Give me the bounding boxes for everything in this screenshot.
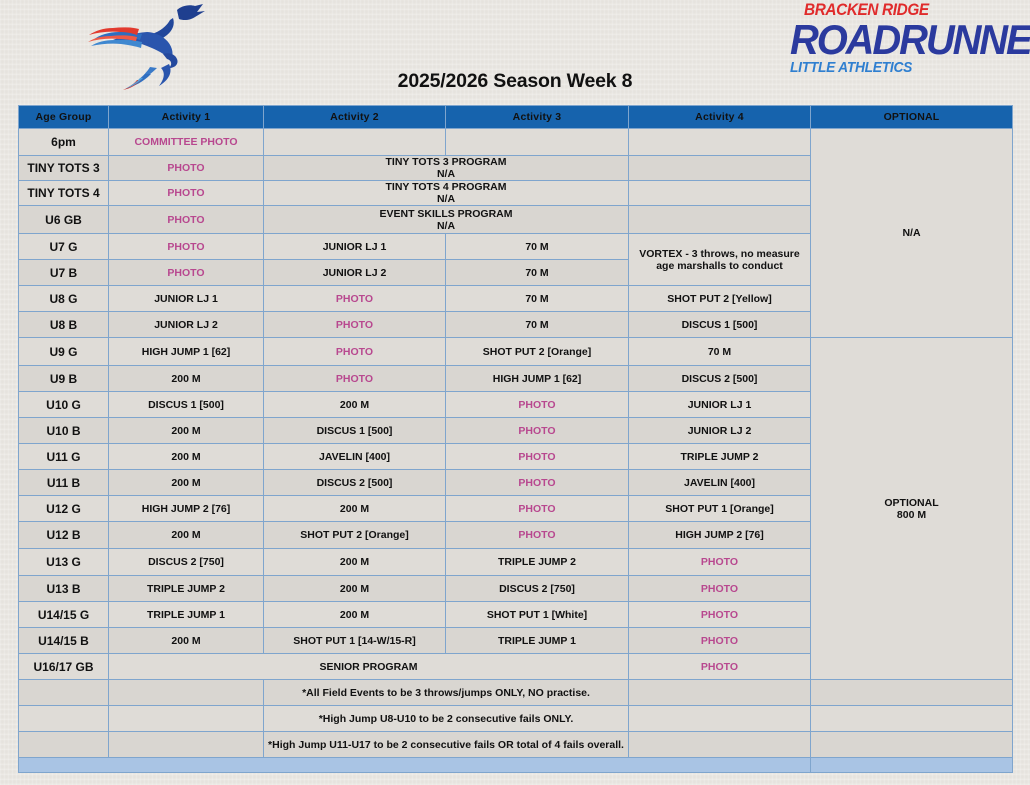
cell-activity-4: PHOTO (629, 654, 811, 680)
schedule-table-wrapper: Age Group Activity 1 Activity 2 Activity… (18, 105, 1012, 773)
page-header: BRACKEN RIDGE ROADRUNNERS LITTLE ATHLETI… (0, 0, 1030, 104)
cell-activity-2 (264, 129, 446, 156)
cell-activity-2: 200 M (264, 576, 446, 602)
cell-activity-1: TRIPLE JUMP 1 (109, 602, 264, 628)
cell-activity-3: 70 M (446, 234, 629, 260)
cell-activity-1: 200 M (109, 522, 264, 549)
cell-activity-1: COMMITTEE PHOTO (109, 129, 264, 156)
cell-activity-1: 200 M (109, 628, 264, 654)
cell-optional-800m: OPTIONAL 800 M (811, 338, 1013, 680)
cell-age-group: U9 B (19, 366, 109, 392)
cell-senior-program: SENIOR PROGRAM (109, 654, 629, 680)
cell-activity-4 (629, 181, 811, 206)
cell-vortex-note: VORTEX - 3 throws, no measure age marsha… (629, 234, 811, 286)
cell-activity-4: PHOTO (629, 602, 811, 628)
bottom-strip-left (19, 758, 811, 773)
cell-activity-3: PHOTO (446, 470, 629, 496)
cell-age-group: U13 G (19, 549, 109, 576)
cell-optional-na: N/A (811, 129, 1013, 338)
vortex-note-line-2: age marshalls to conduct (631, 260, 808, 272)
cell-age-group: U14/15 G (19, 602, 109, 628)
cell-age-group: U6 GB (19, 206, 109, 234)
cell-activity-2: PHOTO (264, 338, 446, 366)
cell-age-group: U11 B (19, 470, 109, 496)
cell-activity-4: SHOT PUT 1 [Orange] (629, 496, 811, 522)
footnote-row: *High Jump U11-U17 to be 2 consecutive f… (19, 732, 1013, 758)
cell-age-group: U14/15 B (19, 628, 109, 654)
cell-blank (811, 732, 1013, 758)
program-status: N/A (266, 193, 626, 205)
cell-activity-2: DISCUS 2 [500] (264, 470, 446, 496)
cell-age-group: U11 G (19, 444, 109, 470)
cell-blank (19, 680, 109, 706)
column-header-activity-1: Activity 1 (109, 106, 264, 129)
optional-distance: 800 M (813, 509, 1010, 521)
column-header-activity-4: Activity 4 (629, 106, 811, 129)
cell-activity-2: JUNIOR LJ 2 (264, 260, 446, 286)
cell-activity-3: 70 M (446, 286, 629, 312)
bottom-strip-row (19, 758, 1013, 773)
cell-activity-4 (629, 129, 811, 156)
cell-activity-1: HIGH JUMP 1 [62] (109, 338, 264, 366)
cell-blank (629, 706, 811, 732)
cell-blank (109, 706, 264, 732)
column-header-activity-3: Activity 3 (446, 106, 629, 129)
cell-activity-3: PHOTO (446, 496, 629, 522)
cell-activity-1: 200 M (109, 470, 264, 496)
footnote-row: *High Jump U8-U10 to be 2 consecutive fa… (19, 706, 1013, 732)
cell-age-group: U12 G (19, 496, 109, 522)
cell-age-group: U10 G (19, 392, 109, 418)
cell-footnote-text: *High Jump U8-U10 to be 2 consecutive fa… (264, 706, 629, 732)
cell-activity-4: PHOTO (629, 576, 811, 602)
cell-activity-2: DISCUS 1 [500] (264, 418, 446, 444)
program-name: TINY TOTS 3 PROGRAM (266, 156, 626, 168)
cell-activity-4: JUNIOR LJ 1 (629, 392, 811, 418)
cell-blank (19, 706, 109, 732)
cell-activity-3: PHOTO (446, 444, 629, 470)
cell-activity-3: HIGH JUMP 1 [62] (446, 366, 629, 392)
cell-activity-4: JAVELIN [400] (629, 470, 811, 496)
cell-activity-1: TRIPLE JUMP 2 (109, 576, 264, 602)
cell-activity-2: 200 M (264, 549, 446, 576)
program-name: TINY TOTS 4 PROGRAM (266, 181, 626, 193)
cell-activity-2: 200 M (264, 602, 446, 628)
cell-activity-3: TRIPLE JUMP 2 (446, 549, 629, 576)
cell-activity-1: 200 M (109, 366, 264, 392)
cell-activity-2: PHOTO (264, 366, 446, 392)
cell-activity-3: DISCUS 2 [750] (446, 576, 629, 602)
cell-blank (109, 732, 264, 758)
footnote-row: *All Field Events to be 3 throws/jumps O… (19, 680, 1013, 706)
cell-footnote-text: *High Jump U11-U17 to be 2 consecutive f… (264, 732, 629, 758)
cell-activity-3: TRIPLE JUMP 1 (446, 628, 629, 654)
page-title: 2025/2026 Season Week 8 (0, 70, 1030, 93)
cell-activity-3 (446, 129, 629, 156)
cell-program-span: TINY TOTS 3 PROGRAM N/A (264, 156, 629, 181)
cell-activity-4: JUNIOR LJ 2 (629, 418, 811, 444)
cell-activity-3: SHOT PUT 1 [White] (446, 602, 629, 628)
cell-footnote-text: *All Field Events to be 3 throws/jumps O… (264, 680, 629, 706)
program-status: N/A (266, 168, 626, 180)
cell-blank (629, 732, 811, 758)
cell-blank (109, 680, 264, 706)
cell-age-group: 6pm (19, 129, 109, 156)
cell-activity-1: PHOTO (109, 206, 264, 234)
cell-age-group: U12 B (19, 522, 109, 549)
cell-activity-1: DISCUS 1 [500] (109, 392, 264, 418)
cell-activity-3: PHOTO (446, 392, 629, 418)
cell-blank (629, 680, 811, 706)
cell-activity-4: HIGH JUMP 2 [76] (629, 522, 811, 549)
cell-activity-1: PHOTO (109, 234, 264, 260)
column-header-optional: OPTIONAL (811, 106, 1013, 129)
cell-age-group: U7 G (19, 234, 109, 260)
cell-activity-1: DISCUS 2 [750] (109, 549, 264, 576)
program-status: N/A (266, 220, 626, 232)
cell-activity-3: 70 M (446, 312, 629, 338)
cell-activity-4: DISCUS 2 [500] (629, 366, 811, 392)
schedule-table: Age Group Activity 1 Activity 2 Activity… (18, 105, 1013, 773)
cell-activity-4: TRIPLE JUMP 2 (629, 444, 811, 470)
cell-activity-1: PHOTO (109, 156, 264, 181)
table-row: 6pm COMMITTEE PHOTO N/A (19, 129, 1013, 156)
bottom-strip-right (811, 758, 1013, 773)
cell-activity-1: PHOTO (109, 181, 264, 206)
brand-line-roadrunners: ROADRUNNERS (790, 20, 1014, 60)
cell-activity-2: 200 M (264, 496, 446, 522)
cell-activity-1: PHOTO (109, 260, 264, 286)
cell-activity-1: JUNIOR LJ 2 (109, 312, 264, 338)
cell-activity-2: 200 M (264, 392, 446, 418)
column-header-activity-2: Activity 2 (264, 106, 446, 129)
cell-age-group: U16/17 GB (19, 654, 109, 680)
cell-activity-2: JUNIOR LJ 1 (264, 234, 446, 260)
cell-age-group: U8 G (19, 286, 109, 312)
cell-age-group: U7 B (19, 260, 109, 286)
cell-activity-2: SHOT PUT 1 [14-W/15-R] (264, 628, 446, 654)
cell-activity-4 (629, 206, 811, 234)
cell-age-group: TINY TOTS 3 (19, 156, 109, 181)
cell-activity-4: DISCUS 1 [500] (629, 312, 811, 338)
cell-program-span: EVENT SKILLS PROGRAM N/A (264, 206, 629, 234)
cell-activity-2: PHOTO (264, 286, 446, 312)
cell-activity-2: JAVELIN [400] (264, 444, 446, 470)
cell-activity-4: PHOTO (629, 549, 811, 576)
cell-age-group: TINY TOTS 4 (19, 181, 109, 206)
cell-activity-4: PHOTO (629, 628, 811, 654)
cell-program-span: TINY TOTS 4 PROGRAM N/A (264, 181, 629, 206)
program-name: EVENT SKILLS PROGRAM (266, 208, 626, 220)
optional-label: OPTIONAL (813, 497, 1010, 509)
cell-age-group: U9 G (19, 338, 109, 366)
cell-activity-3: PHOTO (446, 522, 629, 549)
cell-activity-4 (629, 156, 811, 181)
cell-activity-1: JUNIOR LJ 1 (109, 286, 264, 312)
cell-age-group: U10 B (19, 418, 109, 444)
cell-age-group: U8 B (19, 312, 109, 338)
cell-activity-1: 200 M (109, 444, 264, 470)
table-row: U9 G HIGH JUMP 1 [62] PHOTO SHOT PUT 2 [… (19, 338, 1013, 366)
cell-activity-3: PHOTO (446, 418, 629, 444)
cell-activity-3: 70 M (446, 260, 629, 286)
vortex-note-line-1: VORTEX - 3 throws, no measure (631, 248, 808, 260)
cell-activity-4: SHOT PUT 2 [Yellow] (629, 286, 811, 312)
cell-blank (19, 732, 109, 758)
cell-activity-1: HIGH JUMP 2 [76] (109, 496, 264, 522)
cell-blank (811, 706, 1013, 732)
cell-activity-2: SHOT PUT 2 [Orange] (264, 522, 446, 549)
column-header-age-group: Age Group (19, 106, 109, 129)
cell-activity-3: SHOT PUT 2 [Orange] (446, 338, 629, 366)
cell-blank (811, 680, 1013, 706)
table-header-row: Age Group Activity 1 Activity 2 Activity… (19, 106, 1013, 129)
cell-age-group: U13 B (19, 576, 109, 602)
cell-activity-4: 70 M (629, 338, 811, 366)
cell-activity-2: PHOTO (264, 312, 446, 338)
cell-activity-1: 200 M (109, 418, 264, 444)
